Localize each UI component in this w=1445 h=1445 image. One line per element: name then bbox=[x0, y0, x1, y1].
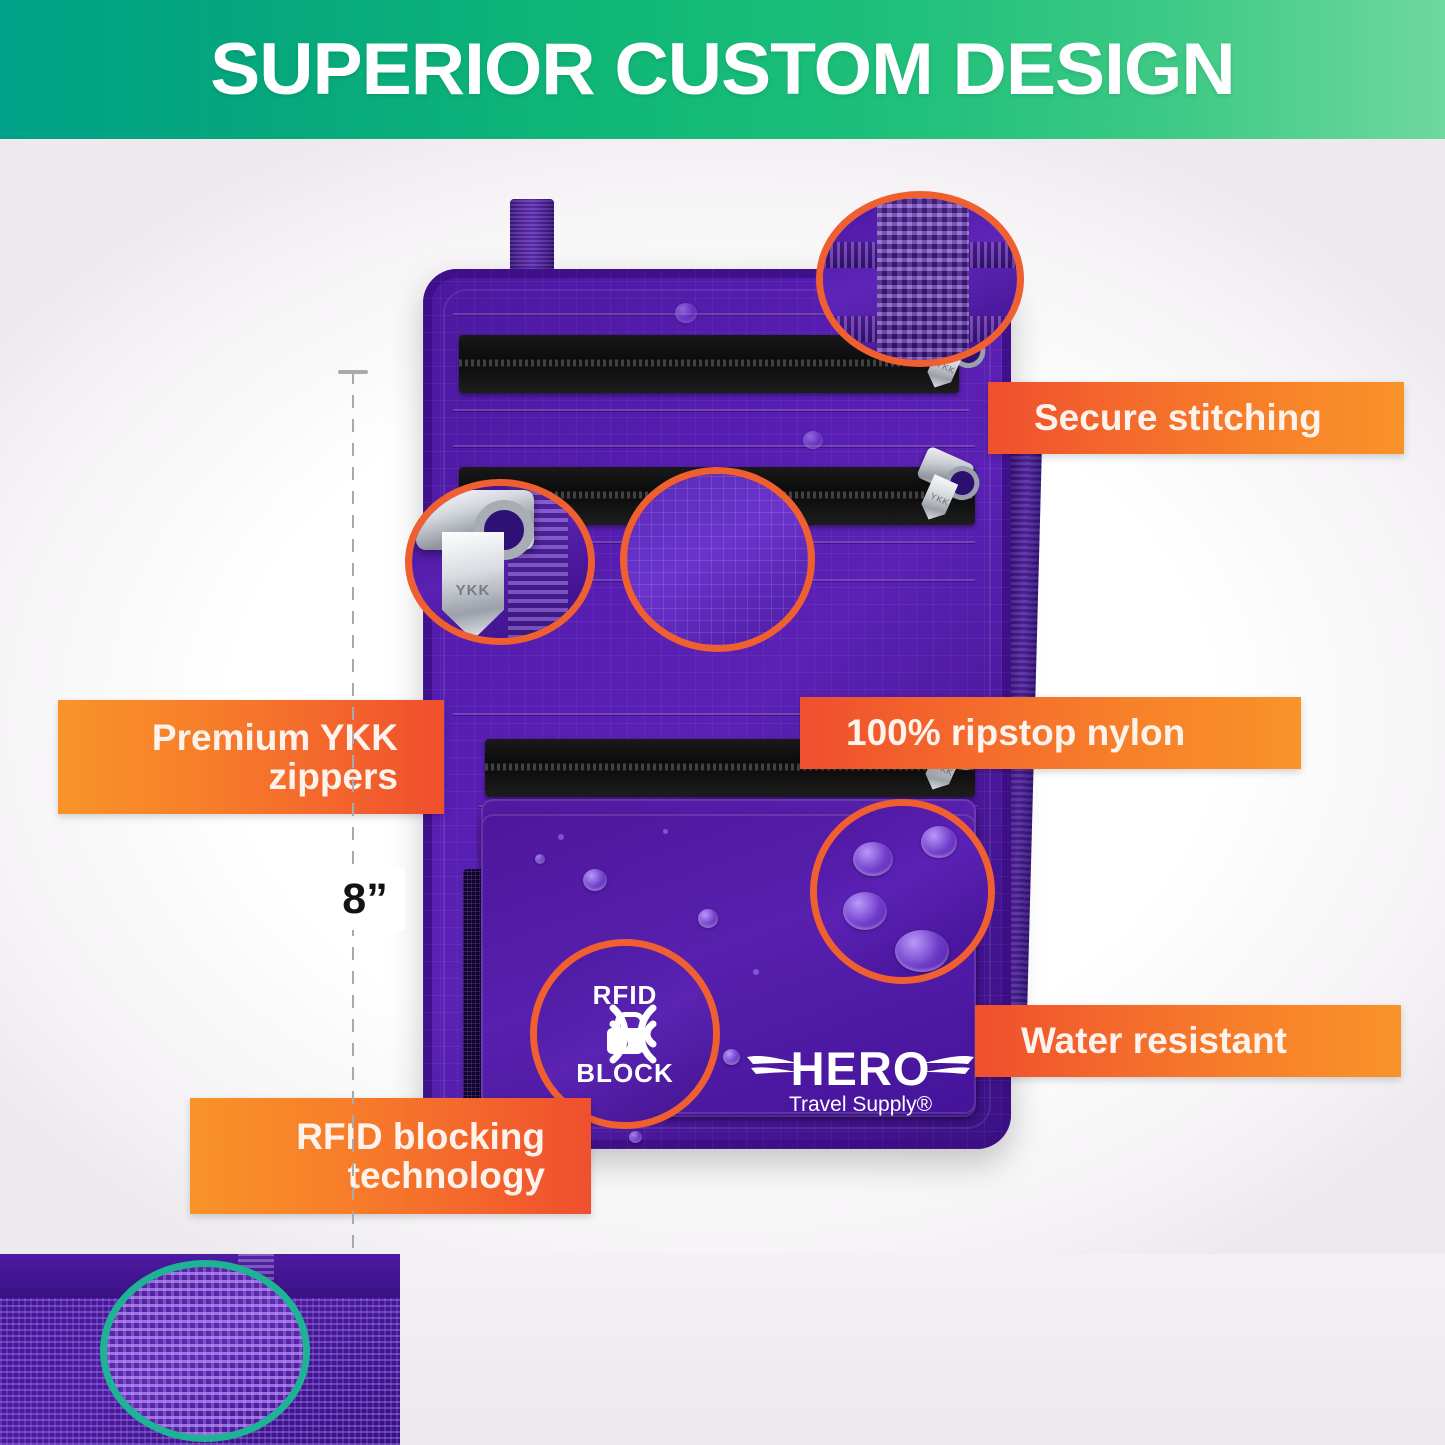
label-rfid-line2: technology bbox=[296, 1156, 545, 1195]
page-title: SUPERIOR CUSTOM DESIGN bbox=[210, 33, 1235, 106]
water-mist bbox=[558, 834, 564, 840]
ykk-zipper-closeup: YKK bbox=[412, 486, 588, 638]
mesh-zoom-texture bbox=[107, 1267, 303, 1435]
rfid-badge-closeup: RFID bbox=[537, 946, 713, 1122]
water-droplet bbox=[583, 869, 607, 891]
water-mist bbox=[663, 829, 668, 834]
wing-right-icon bbox=[922, 1051, 974, 1081]
label-ykk-zippers: Premium YKK zippers bbox=[58, 700, 444, 814]
infographic-canvas: SUPERIOR CUSTOM DESIGN bbox=[0, 0, 1445, 1445]
stitching-closeup bbox=[823, 198, 1017, 360]
ykk-engraving: YKK bbox=[442, 582, 504, 599]
hero-brand-logo: HERO Travel Supply® bbox=[753, 1041, 968, 1133]
main-product-area: YKK YKK YKK bbox=[0, 139, 1445, 1254]
fabric-bump bbox=[675, 303, 697, 323]
bottom-band: Breathable mesh back H bbox=[0, 1254, 1445, 1445]
dimension-line-vertical bbox=[352, 371, 354, 1254]
seam-line bbox=[453, 445, 975, 447]
callout-circle-breathable-mesh bbox=[100, 1260, 310, 1442]
water-bead bbox=[895, 930, 949, 972]
water-beading-closeup bbox=[817, 806, 988, 977]
label-rfid-line1: RFID blocking bbox=[296, 1117, 545, 1156]
label-water-resistant: Water resistant bbox=[975, 1005, 1401, 1077]
water-droplet bbox=[629, 1131, 642, 1143]
label-ykk-line1: Premium YKK bbox=[152, 718, 398, 757]
dimension-height-label: 8” bbox=[325, 869, 405, 930]
label-ripstop-nylon-text: 100% ripstop nylon bbox=[846, 713, 1185, 752]
water-mist bbox=[753, 969, 759, 975]
rfid-badge: RFID bbox=[537, 946, 713, 1122]
water-bead bbox=[843, 892, 887, 930]
dimension-cap-top bbox=[338, 370, 368, 374]
fabric-bump bbox=[803, 431, 823, 449]
label-water-resistant-text: Water resistant bbox=[1021, 1021, 1287, 1060]
hero-tagline: Travel Supply® bbox=[753, 1093, 968, 1117]
mesh-back-photo bbox=[0, 1254, 400, 1445]
ripstop-closeup bbox=[627, 474, 808, 645]
label-secure-stitching-text: Secure stitching bbox=[1034, 398, 1322, 437]
water-bead bbox=[921, 826, 957, 858]
seam-line bbox=[453, 409, 969, 411]
rfid-waves-right-icon bbox=[607, 998, 659, 1070]
callout-circle-secure-stitching bbox=[816, 191, 1024, 367]
water-droplet bbox=[723, 1049, 740, 1065]
label-ripstop-nylon: 100% ripstop nylon bbox=[800, 697, 1301, 769]
label-secure-stitching: Secure stitching bbox=[988, 382, 1404, 454]
callout-circle-ykk-zipper: YKK bbox=[405, 479, 595, 645]
hero-wordmark: HERO bbox=[753, 1041, 968, 1095]
hero-text: HERO bbox=[791, 1045, 931, 1092]
label-rfid-blocking: RFID blocking technology bbox=[190, 1098, 591, 1214]
callout-circle-ripstop-nylon bbox=[620, 467, 815, 652]
webbing-strap bbox=[877, 191, 969, 367]
water-droplet bbox=[535, 854, 545, 864]
label-ykk-line2: zippers bbox=[152, 757, 398, 796]
wing-left-icon bbox=[747, 1051, 799, 1081]
callout-circle-water-resistant bbox=[810, 799, 995, 984]
water-bead bbox=[853, 842, 893, 876]
header-banner: SUPERIOR CUSTOM DESIGN bbox=[0, 0, 1445, 139]
water-droplet bbox=[698, 909, 718, 928]
